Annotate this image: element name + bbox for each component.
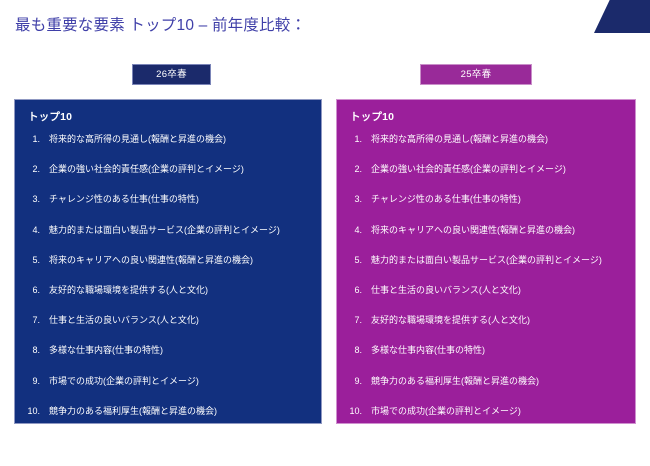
- rank-label: 市場での成功(企業の評判とイメージ): [371, 405, 625, 417]
- rank-label: 企業の強い社会的責任感(企業の評判とイメージ): [49, 163, 311, 175]
- list-item: 10. 市場での成功(企業の評判とイメージ): [347, 405, 625, 417]
- column-badge-25sotsu: 25卒春: [420, 64, 532, 85]
- panel-heading: トップ10: [28, 109, 311, 124]
- rank-number: 10.: [347, 405, 371, 417]
- list-item: 8. 多様な仕事内容(仕事の特性): [25, 344, 311, 356]
- rank-label: 将来のキャリアへの良い関連性(報酬と昇進の機会): [49, 254, 311, 266]
- list-item: 4. 魅力的または面白い製品サービス(企業の評判とイメージ): [25, 224, 311, 236]
- list-item: 1. 将来的な高所得の見通し(報酬と昇進の機会): [347, 133, 625, 145]
- rank-number: 1.: [347, 133, 371, 145]
- ranking-panel-25sotsu: トップ10 1. 将来的な高所得の見通し(報酬と昇進の機会) 2. 企業の強い社…: [336, 99, 636, 424]
- list-item: 3. チャレンジ性のある仕事(仕事の特性): [347, 193, 625, 205]
- list-item: 4. 将来のキャリアへの良い関連性(報酬と昇進の機会): [347, 224, 625, 236]
- rank-number: 7.: [347, 314, 371, 326]
- page-title: 最も重要な要素 トップ10 – 前年度比較：: [15, 13, 306, 35]
- rank-label: チャレンジ性のある仕事(仕事の特性): [371, 193, 625, 205]
- rank-number: 3.: [347, 193, 371, 205]
- rank-number: 4.: [347, 224, 371, 236]
- rank-label: 魅力的または面白い製品サービス(企業の評判とイメージ): [49, 224, 311, 236]
- rank-label: チャレンジ性のある仕事(仕事の特性): [49, 193, 311, 205]
- list-item: 7. 仕事と生活の良いバランス(人と文化): [25, 314, 311, 326]
- rank-number: 5.: [347, 254, 371, 266]
- rank-label: 将来のキャリアへの良い関連性(報酬と昇進の機会): [371, 224, 625, 236]
- rank-label: 友好的な職場環境を提供する(人と文化): [49, 284, 311, 296]
- rank-label: 仕事と生活の良いバランス(人と文化): [49, 314, 311, 326]
- rank-label: 友好的な職場環境を提供する(人と文化): [371, 314, 625, 326]
- rank-number: 7.: [25, 314, 49, 326]
- column-badge-26sotsu: 26卒春: [132, 64, 211, 85]
- rank-label: 市場での成功(企業の評判とイメージ): [49, 375, 311, 387]
- rank-number: 2.: [347, 163, 371, 175]
- list-item: 2. 企業の強い社会的責任感(企業の評判とイメージ): [347, 163, 625, 175]
- rank-number: 5.: [25, 254, 49, 266]
- list-item: 2. 企業の強い社会的責任感(企業の評判とイメージ): [25, 163, 311, 175]
- rank-number: 8.: [347, 344, 371, 356]
- rank-label: 将来的な高所得の見通し(報酬と昇進の機会): [371, 133, 625, 145]
- list-item: 3. チャレンジ性のある仕事(仕事の特性): [25, 193, 311, 205]
- rank-number: 8.: [25, 344, 49, 356]
- rank-number: 2.: [25, 163, 49, 175]
- rank-label: 仕事と生活の良いバランス(人と文化): [371, 284, 625, 296]
- rank-number: 6.: [347, 284, 371, 296]
- rank-label: 競争力のある福利厚生(報酬と昇進の機会): [371, 375, 625, 387]
- list-item: 1. 将来的な高所得の見通し(報酬と昇進の機会): [25, 133, 311, 145]
- list-item: 8. 多様な仕事内容(仕事の特性): [347, 344, 625, 356]
- rank-label: 将来的な高所得の見通し(報酬と昇進の機会): [49, 133, 311, 145]
- rank-number: 1.: [25, 133, 49, 145]
- ranking-panel-26sotsu: トップ10 1. 将来的な高所得の見通し(報酬と昇進の機会) 2. 企業の強い社…: [14, 99, 322, 424]
- rank-number: 4.: [25, 224, 49, 236]
- rank-label: 魅力的または面白い製品サービス(企業の評判とイメージ): [371, 254, 625, 266]
- ranking-list-26sotsu: 1. 将来的な高所得の見通し(報酬と昇進の機会) 2. 企業の強い社会的責任感(…: [25, 133, 311, 417]
- list-item: 7. 友好的な職場環境を提供する(人と文化): [347, 314, 625, 326]
- list-item: 9. 市場での成功(企業の評判とイメージ): [25, 375, 311, 387]
- ranking-list-25sotsu: 1. 将来的な高所得の見通し(報酬と昇進の機会) 2. 企業の強い社会的責任感(…: [347, 133, 625, 417]
- rank-number: 10.: [25, 405, 49, 417]
- rank-label: 競争力のある福利厚生(報酬と昇進の機会): [49, 405, 311, 417]
- panel-heading: トップ10: [350, 109, 625, 124]
- list-item: 5. 魅力的または面白い製品サービス(企業の評判とイメージ): [347, 254, 625, 266]
- corner-decoration: [594, 0, 650, 33]
- rank-number: 9.: [25, 375, 49, 387]
- rank-number: 6.: [25, 284, 49, 296]
- rank-number: 3.: [25, 193, 49, 205]
- rank-label: 多様な仕事内容(仕事の特性): [49, 344, 311, 356]
- rank-label: 企業の強い社会的責任感(企業の評判とイメージ): [371, 163, 625, 175]
- rank-number: 9.: [347, 375, 371, 387]
- list-item: 5. 将来のキャリアへの良い関連性(報酬と昇進の機会): [25, 254, 311, 266]
- list-item: 10. 競争力のある福利厚生(報酬と昇進の機会): [25, 405, 311, 417]
- list-item: 6. 友好的な職場環境を提供する(人と文化): [25, 284, 311, 296]
- list-item: 9. 競争力のある福利厚生(報酬と昇進の機会): [347, 375, 625, 387]
- list-item: 6. 仕事と生活の良いバランス(人と文化): [347, 284, 625, 296]
- rank-label: 多様な仕事内容(仕事の特性): [371, 344, 625, 356]
